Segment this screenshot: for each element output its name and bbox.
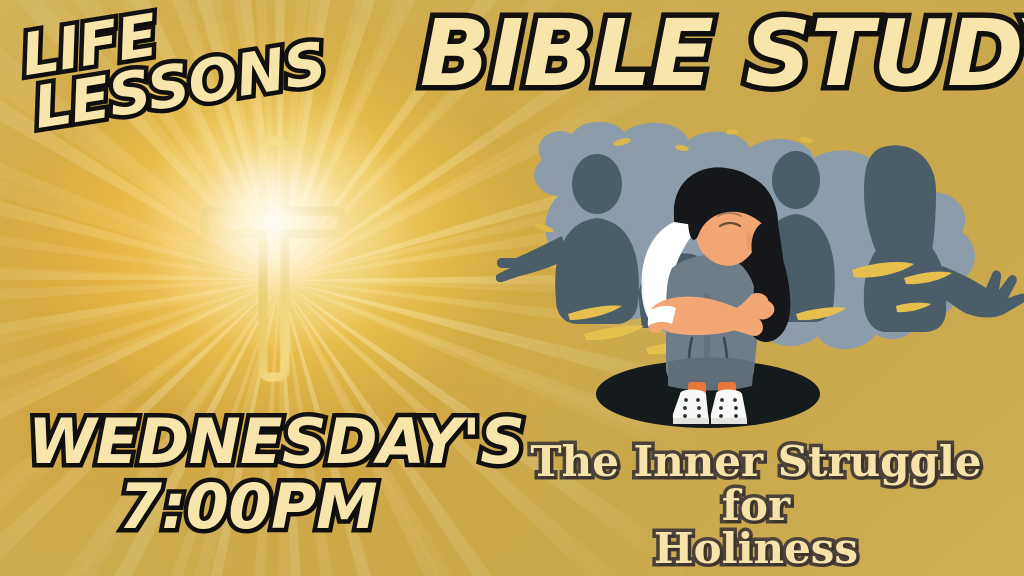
schedule-day: WEDNESDAY'S (28, 412, 468, 473)
topic-line-2: Holiness (500, 527, 1012, 571)
schedule-block: WEDNESDAY'S 7:00PM (28, 412, 468, 538)
distressed-person-illustration (496, 118, 1024, 430)
bible-study-flyer: LIFE LESSONS BIBLE STUDY WEDNESDAY'S 7:0… (0, 0, 1024, 576)
cross-with-glow (196, 132, 352, 384)
topic-line-1: The Inner Struggle for (500, 440, 1012, 527)
schedule-time: 7:00PM (28, 477, 468, 538)
page-title: BIBLE STUDY (420, 8, 1020, 100)
topic-subtitle: The Inner Struggle for Holiness (500, 440, 1012, 571)
shorts (668, 358, 754, 391)
